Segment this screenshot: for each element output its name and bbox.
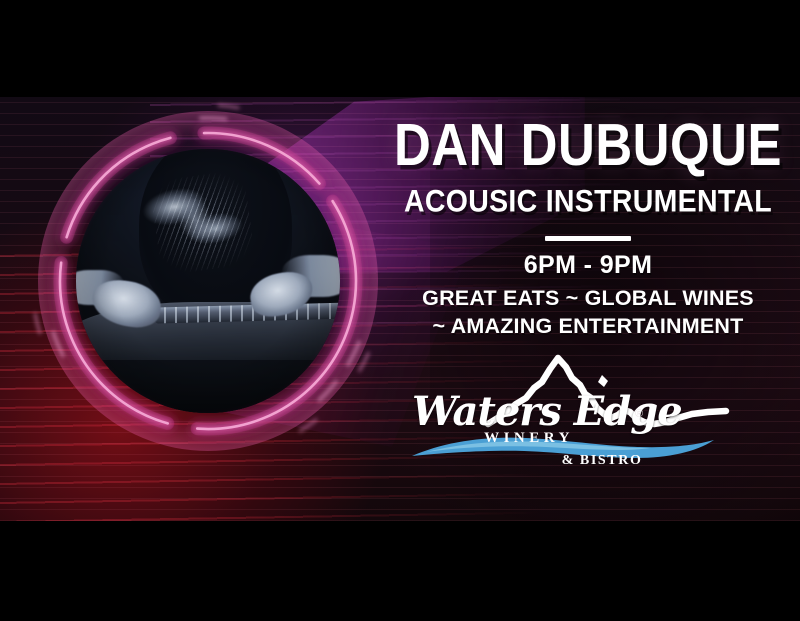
event-time: 6PM - 9PM bbox=[392, 251, 784, 280]
registered-trademark-icon: ® bbox=[635, 408, 643, 420]
divider-rule bbox=[545, 236, 631, 241]
venue-logo: Waters Edge ® WINERY & BISTRO bbox=[392, 352, 784, 470]
poster-screen: DAN DUBUQUE ACOUSIC INSTRUMENTAL 6PM - 9… bbox=[0, 0, 800, 621]
poster-content: DAN DUBUQUE ACOUSIC INSTRUMENTAL 6PM - 9… bbox=[392, 115, 784, 470]
logo-script-name: Waters Edge bbox=[412, 388, 642, 435]
logo-winery-label: WINERY bbox=[454, 430, 604, 447]
letterbox-top bbox=[0, 0, 800, 97]
neon-ring-icon bbox=[38, 111, 378, 451]
event-poster: DAN DUBUQUE ACOUSIC INSTRUMENTAL 6PM - 9… bbox=[0, 97, 800, 521]
genre-subtitle: ACOUSIC INSTRUMENTAL bbox=[392, 184, 784, 220]
tagline-primary: GREAT EATS ~ GLOBAL WINES bbox=[392, 285, 784, 313]
logo-bistro-label: & BISTRO bbox=[532, 453, 672, 469]
letterbox-bottom bbox=[0, 521, 800, 621]
artist-photo-medallion bbox=[64, 137, 352, 425]
tagline-secondary: ~ AMAZING ENTERTAINMENT bbox=[392, 313, 784, 341]
artist-name: DAN DUBUQUE bbox=[392, 115, 784, 175]
